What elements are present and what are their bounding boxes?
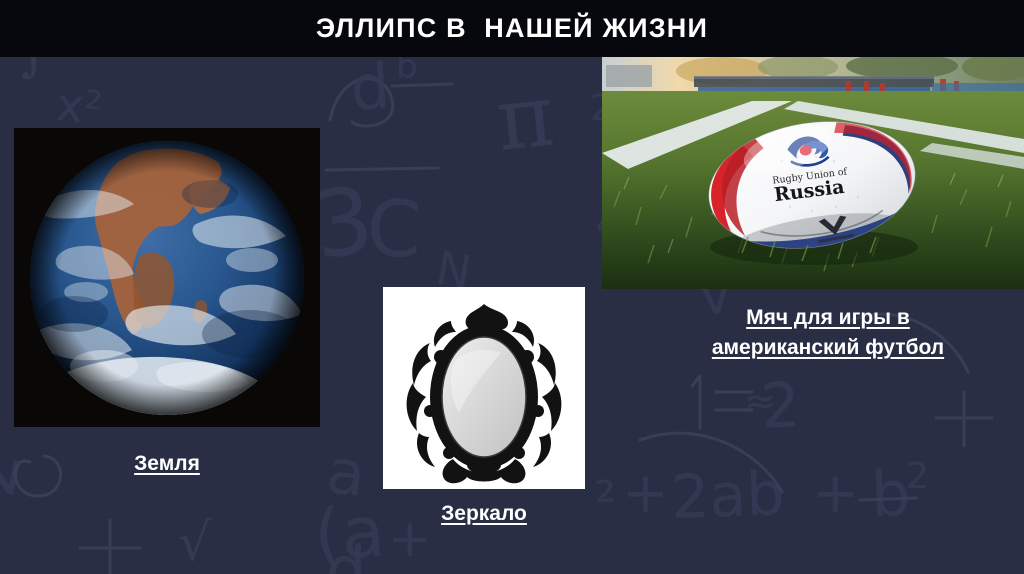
svg-text:d: d — [348, 49, 392, 125]
earth-caption: Земля — [14, 450, 320, 477]
svg-text:+: + — [812, 461, 859, 526]
earth-photo — [14, 128, 320, 427]
slide-title-banner: ЭЛЛИПС В НАШЕЙ ЖИЗНИ — [0, 0, 1024, 57]
mirror-caption-line: Зеркало — [441, 500, 527, 527]
svg-text:x²: x² — [54, 77, 105, 135]
svg-text:²: ² — [593, 469, 618, 533]
rugby-ball-caption: Мяч для игры в американский футбол — [640, 303, 1016, 363]
svg-text:d: d — [326, 534, 367, 574]
svg-text:(a: (a — [311, 490, 387, 574]
rugby-ball-photo: Rugby Union of Russia — [602, 57, 1024, 289]
svg-text:2ab: 2ab — [670, 459, 785, 533]
rugby-caption-line-1: Мяч для игры в — [746, 303, 910, 333]
earth-caption-line: Земля — [134, 450, 200, 477]
svg-text:C: C — [365, 184, 423, 276]
svg-text:π: π — [492, 66, 559, 171]
svg-text:2: 2 — [906, 456, 929, 497]
svg-text:≈: ≈ — [744, 379, 776, 423]
presentation-slide: ∫ x² d b π 2 2 ° 3 C N ∆ V V — [0, 0, 1024, 574]
svg-text:√: √ — [178, 513, 212, 573]
svg-text:2: 2 — [759, 368, 802, 443]
rugby-caption-line-2: американский футбол — [712, 333, 944, 363]
svg-text:+: + — [622, 461, 669, 526]
svg-text:a: a — [323, 434, 368, 511]
mirror-caption: Зеркало — [383, 500, 585, 527]
page-title: ЭЛЛИПС В НАШЕЙ ЖИЗНИ — [316, 15, 708, 42]
svg-text:b: b — [870, 457, 912, 531]
mirror-photo — [383, 287, 585, 489]
